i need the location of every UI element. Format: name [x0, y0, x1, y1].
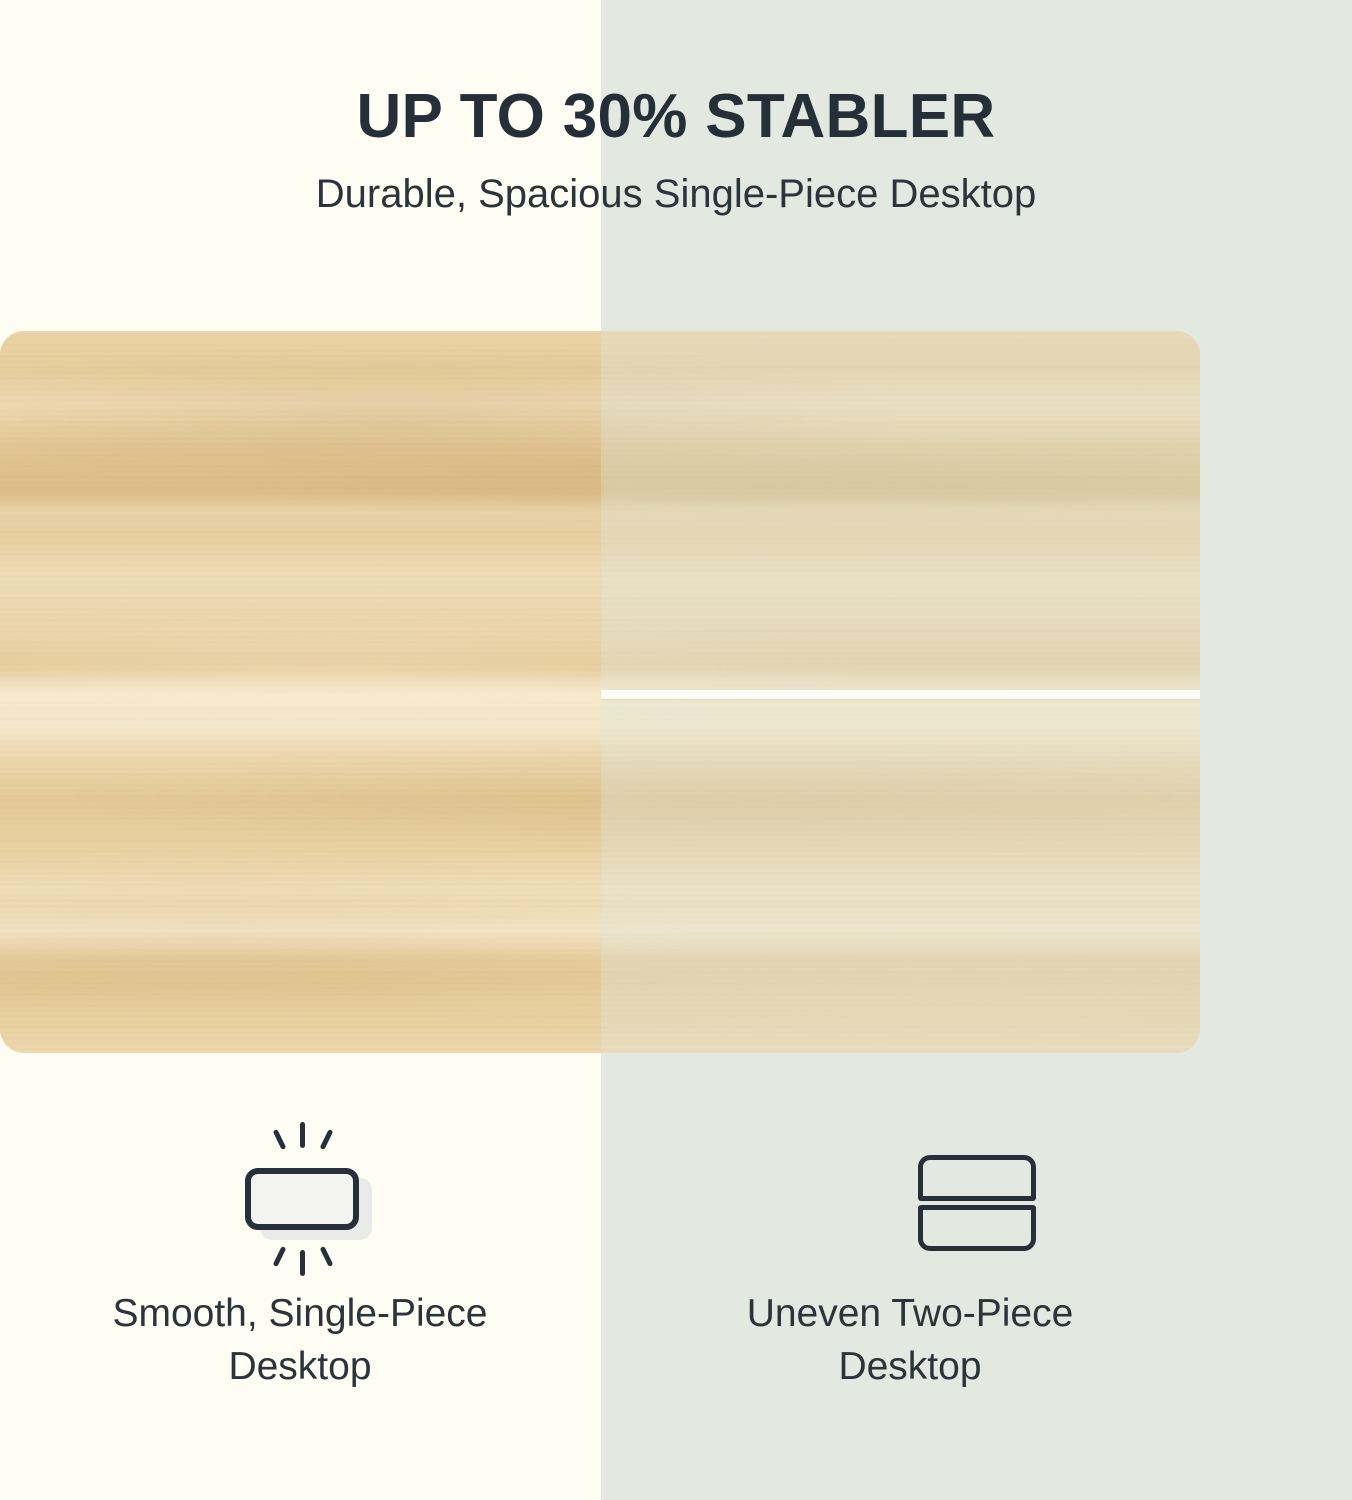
sparkle-line-top-left [272, 1129, 286, 1150]
icon-desktop-half-bottom [918, 1205, 1036, 1251]
sparkle-line-bottom-left [272, 1246, 286, 1267]
comparison-caption-row: Smooth, Single-Piece Desktop Uneven Two-… [0, 1288, 1352, 1438]
caption-two-piece: Uneven Two-Piece Desktop [680, 1288, 1140, 1393]
page-title: UP TO 30% STABLER [0, 0, 1352, 150]
comparison-cell-single-piece [0, 1110, 601, 1290]
single-piece-desktop-icon [236, 1120, 366, 1280]
icon-desktop-slab [245, 1168, 359, 1230]
sparkle-line-top-center [300, 1122, 305, 1148]
sparkle-line-bottom-center [300, 1250, 305, 1276]
comparison-icon-row [0, 1110, 1352, 1290]
wood-desktop-panel [0, 331, 1200, 1053]
sparkle-line-bottom-right [319, 1246, 333, 1267]
header-block: UP TO 30% STABLER Durable, Spacious Sing… [0, 0, 1352, 217]
product-feature-poster: UP TO 30% STABLER Durable, Spacious Sing… [0, 0, 1352, 1500]
page-subtitle: Durable, Spacious Single-Piece Desktop [0, 150, 1352, 217]
sparkle-line-top-right [319, 1129, 333, 1150]
two-piece-desktop-icon [918, 1145, 1036, 1255]
comparison-cell-two-piece [601, 1110, 1352, 1290]
icon-desktop-half-top [918, 1155, 1036, 1201]
desktop-seam-line [601, 690, 1200, 699]
caption-single-piece: Smooth, Single-Piece Desktop [60, 1288, 540, 1393]
